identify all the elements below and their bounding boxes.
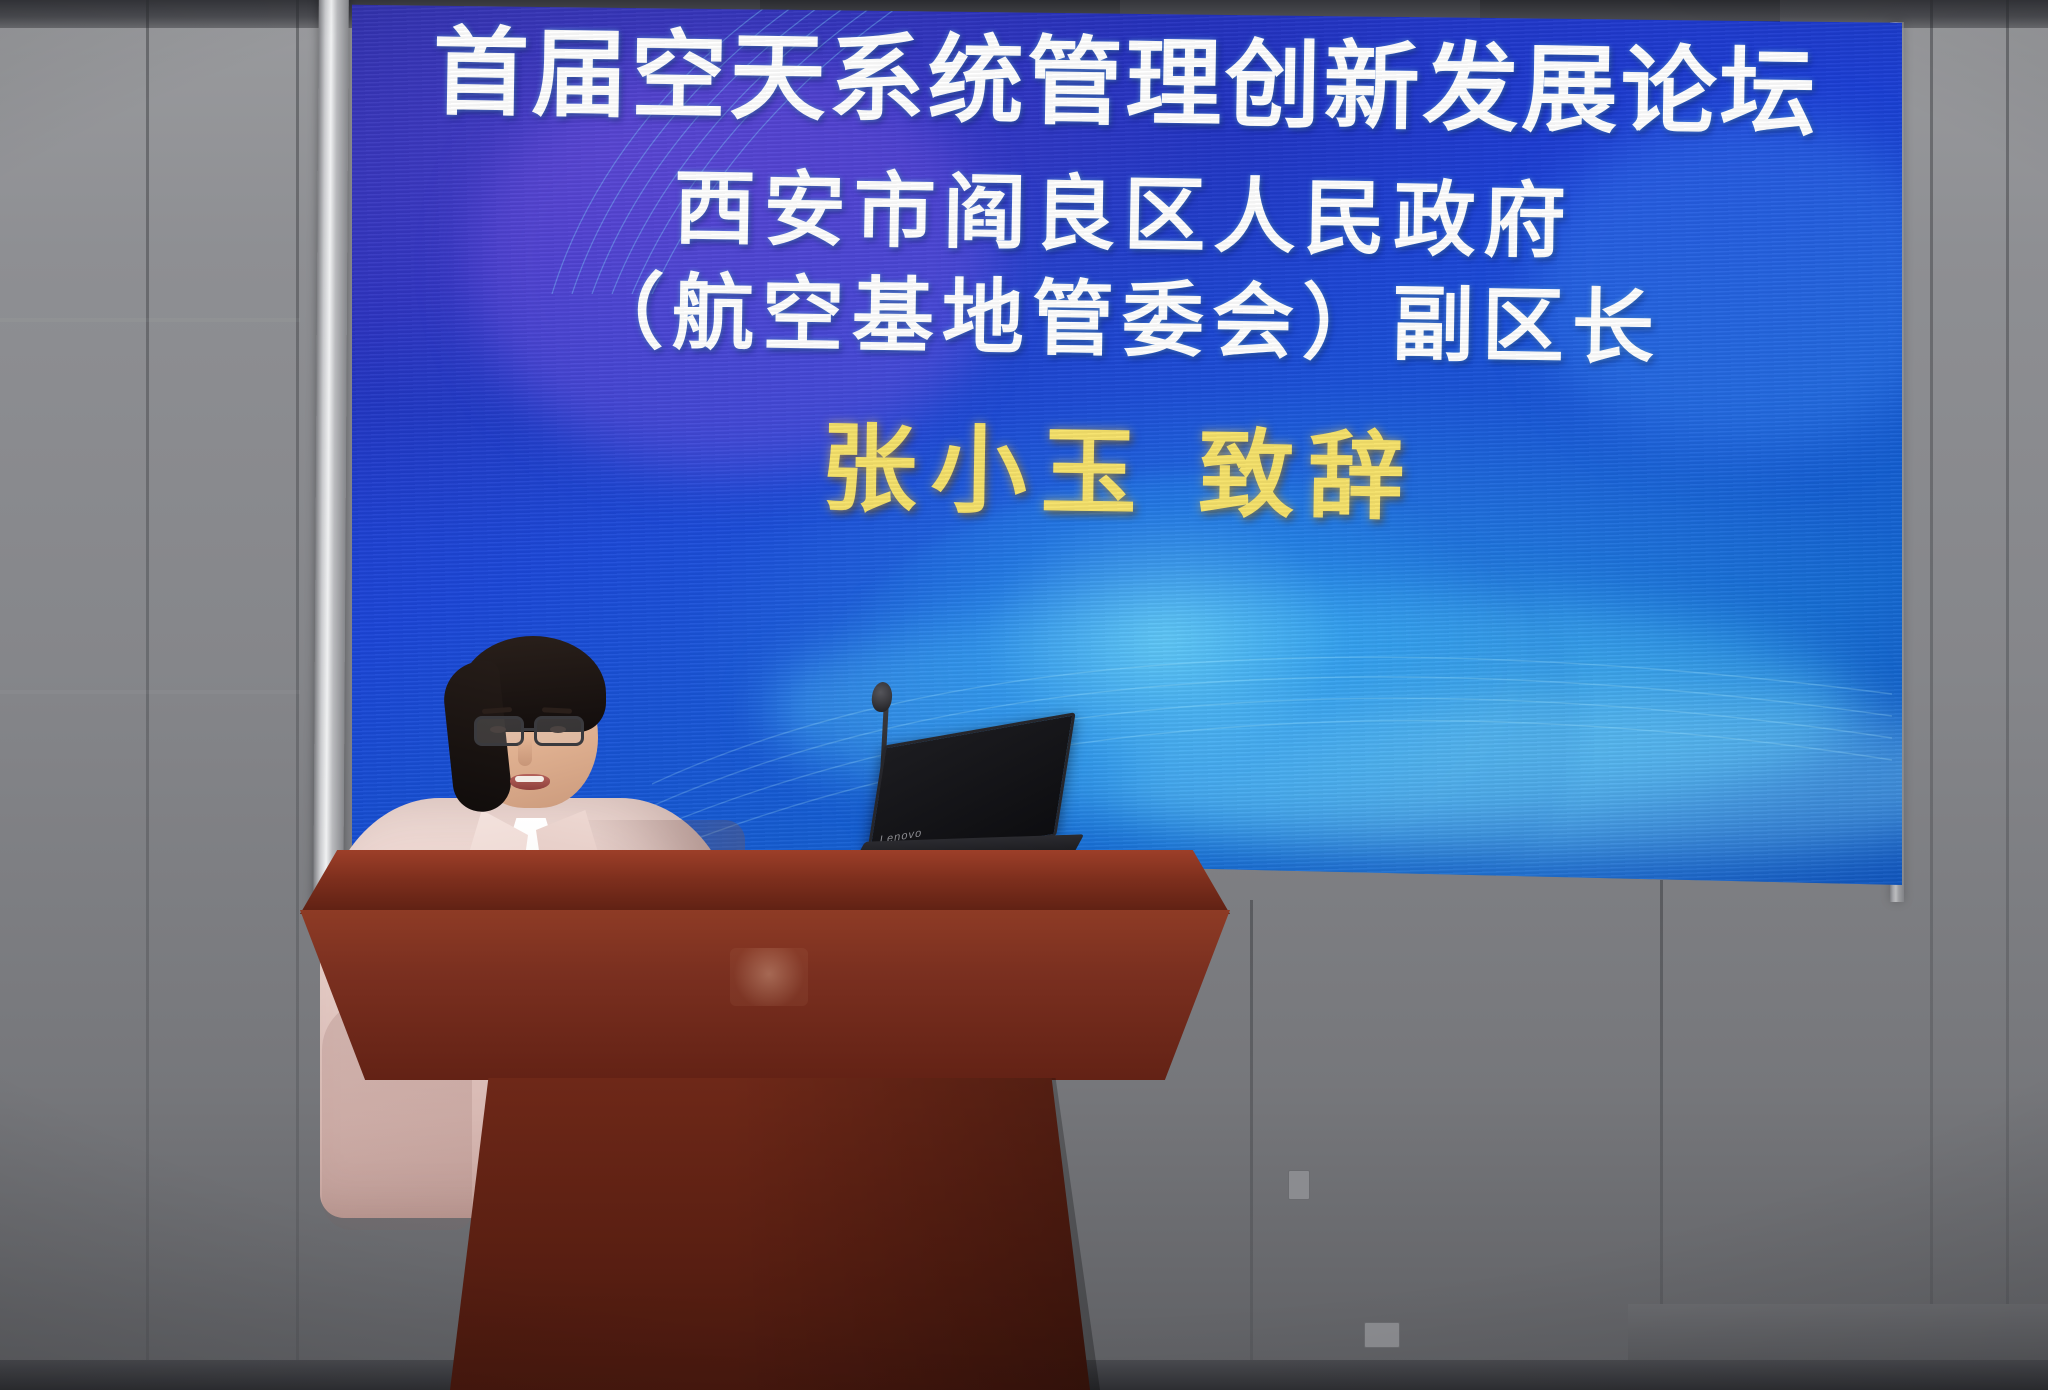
- speaker-name-line: 张小玉 致辞: [352, 383, 1896, 546]
- wall-panel-seam: [1930, 0, 1933, 1390]
- wall-panel-seam: [146, 0, 149, 1390]
- wall-metal-trim: [313, 0, 349, 924]
- wall-outlet: [1288, 1170, 1310, 1200]
- org-line-2: （航空基地管委会）副区长: [352, 256, 1898, 385]
- screen-text-block: 首届空天系统管理创新发展论坛 西安市阎良区人民政府 （航空基地管委会）副区长 张…: [352, 0, 1902, 546]
- screen-arc-lines: [532, 0, 952, 294]
- screen-glow-wave: [472, 54, 992, 474]
- screen-glow-wave: [1112, 694, 1902, 864]
- wall-panel-seam: [1250, 900, 1253, 1390]
- wall-band: [0, 690, 300, 694]
- conference-photo-scene: 首届空天系统管理创新发展论坛 西安市阎良区人民政府 （航空基地管委会）副区长 张…: [0, 0, 2048, 1390]
- screen-glow-wave: [772, 594, 1852, 824]
- org-line-1: 西安市阎良区人民政府: [352, 151, 1899, 280]
- wall-baseboard: [0, 1360, 2048, 1390]
- led-display-screen: 首届空天系统管理创新发展论坛 西安市阎良区人民政府 （航空基地管委会）副区长 张…: [352, 0, 1902, 894]
- wall-panel-seam: [296, 0, 299, 1390]
- floor-strip: [1628, 1304, 2048, 1364]
- screen-globe-graphic: [822, 474, 1582, 894]
- wall-band: [0, 318, 300, 322]
- screen-sweep-lines: [652, 534, 1892, 864]
- wall-outlet: [1364, 1322, 1400, 1348]
- forum-title: 首届空天系统管理创新发展论坛: [352, 22, 1901, 147]
- screen-glow-wave: [1532, 114, 1902, 454]
- wall-panel-seam: [2006, 0, 2009, 1390]
